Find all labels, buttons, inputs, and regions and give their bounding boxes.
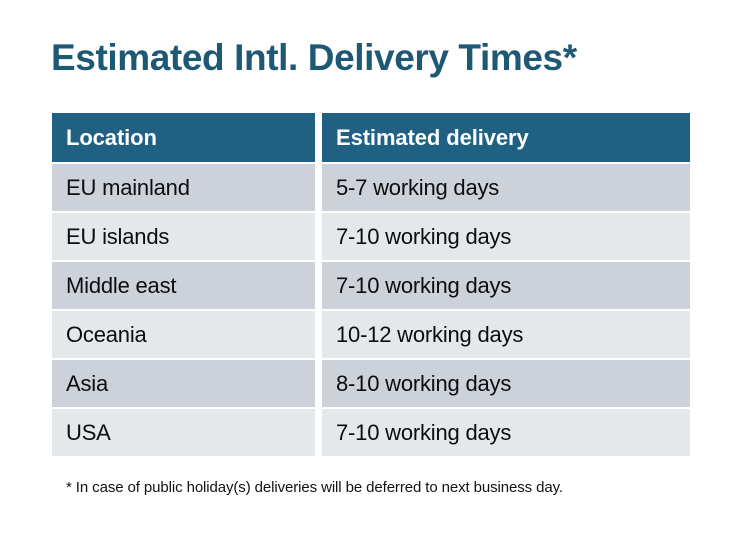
cell-location: EU islands: [52, 211, 315, 260]
column-header-location: Location: [52, 113, 315, 162]
row-gap-spacer: [315, 358, 322, 407]
column-header-estimated-delivery: Estimated delivery: [322, 113, 690, 162]
row-gap-spacer: [315, 407, 322, 456]
column-gap-spacer: [315, 113, 322, 162]
row-gap-spacer: [315, 260, 322, 309]
delivery-times-table: Location Estimated delivery EU mainland …: [52, 113, 690, 456]
delivery-times-page: Estimated Intl. Delivery Times* Location…: [0, 0, 745, 536]
table-row: Oceania 10-12 working days: [52, 309, 690, 358]
cell-location: EU mainland: [52, 162, 315, 211]
table-row: EU mainland 5-7 working days: [52, 162, 690, 211]
cell-delivery: 10-12 working days: [322, 309, 690, 358]
table-row: EU islands 7-10 working days: [52, 211, 690, 260]
row-gap-spacer: [315, 309, 322, 358]
row-gap-spacer: [315, 211, 322, 260]
table-row: USA 7-10 working days: [52, 407, 690, 456]
footnote-text: * In case of public holiday(s) deliverie…: [66, 479, 563, 496]
table-row: Middle east 7-10 working days: [52, 260, 690, 309]
cell-delivery: 8-10 working days: [322, 358, 690, 407]
cell-delivery: 5-7 working days: [322, 162, 690, 211]
cell-delivery: 7-10 working days: [322, 407, 690, 456]
cell-delivery: 7-10 working days: [322, 260, 690, 309]
cell-delivery: 7-10 working days: [322, 211, 690, 260]
row-gap-spacer: [315, 162, 322, 211]
table-body: EU mainland 5-7 working days EU islands …: [52, 162, 690, 456]
table-header-row: Location Estimated delivery: [52, 113, 690, 162]
cell-location: USA: [52, 407, 315, 456]
table-row: Asia 8-10 working days: [52, 358, 690, 407]
cell-location: Middle east: [52, 260, 315, 309]
cell-location: Asia: [52, 358, 315, 407]
page-title: Estimated Intl. Delivery Times*: [51, 36, 577, 80]
cell-location: Oceania: [52, 309, 315, 358]
table-header: Location Estimated delivery: [52, 113, 690, 162]
